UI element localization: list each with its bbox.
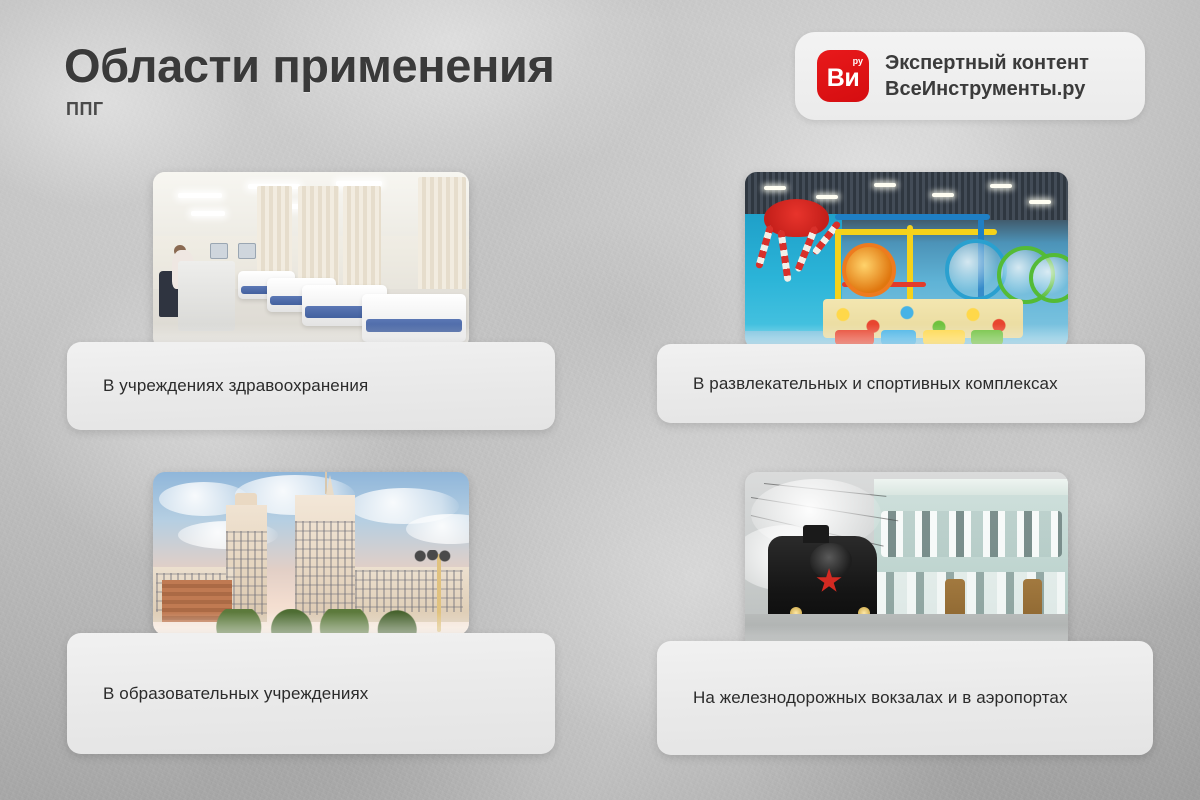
caption-text-entertainment: В развлекательных и спортивных комплекса… xyxy=(693,370,1058,398)
caption-card-entertainment[interactable]: В развлекательных и спортивных комплекса… xyxy=(657,344,1145,423)
hospital-scene xyxy=(153,172,469,349)
items-grid: В учреждениях здравоохранения xyxy=(0,0,1200,800)
caption-card-education[interactable]: В образовательных учреждениях xyxy=(67,633,555,754)
caption-card-transport[interactable]: На железнодорожных вокзалах и в аэропорт… xyxy=(657,641,1153,755)
university-scene xyxy=(153,472,469,635)
photo-healthcare xyxy=(153,172,469,349)
playground-scene xyxy=(745,172,1068,349)
caption-text-transport: На железнодорожных вокзалах и в аэропорт… xyxy=(693,684,1068,712)
caption-text-healthcare: В учреждениях здравоохранения xyxy=(103,372,368,400)
photo-education xyxy=(153,472,469,635)
slide-root: Области применения ППГ Ви ру Экспертный … xyxy=(0,0,1200,800)
train-station-scene xyxy=(745,472,1068,650)
photo-entertainment xyxy=(745,172,1068,349)
caption-text-education: В образовательных учреждениях xyxy=(103,680,368,708)
caption-card-healthcare[interactable]: В учреждениях здравоохранения xyxy=(67,342,555,430)
photo-transport xyxy=(745,472,1068,650)
